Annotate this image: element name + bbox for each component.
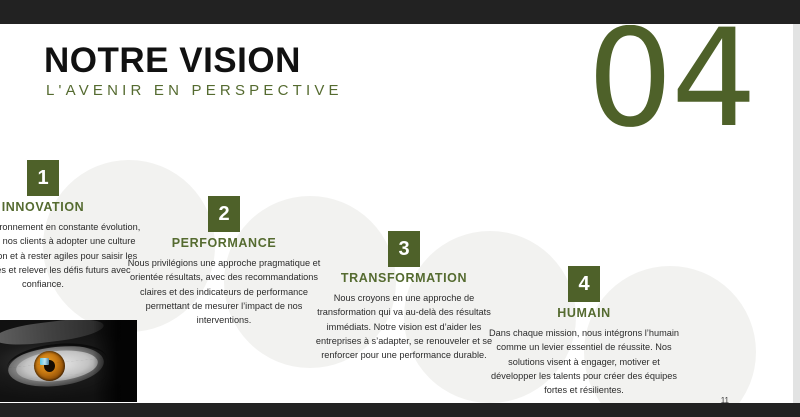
pillar-title: TRANSFORMATION: [341, 271, 467, 285]
pillar-body: Dans un environnement en constante évolu…: [0, 220, 141, 291]
right-edge-strip: [793, 24, 800, 403]
pillar-title: INNOVATION: [2, 200, 85, 214]
slide-canvas: NOTRE VISION L'AVENIR EN PERSPECTIVE 04 …: [0, 25, 789, 403]
pillar-number-badge: 2: [208, 196, 240, 232]
pillar-title: HUMAIN: [557, 306, 611, 320]
page-title: NOTRE VISION: [44, 43, 301, 78]
pillar-title: PERFORMANCE: [172, 236, 277, 250]
photo-shadow-vignette: [93, 320, 137, 402]
pillar-number-badge: 4: [568, 266, 600, 302]
pillar-body: Nous croyons en une approche de transfor…: [306, 291, 502, 362]
page-number: 11: [721, 396, 729, 403]
eye-photo-image: [0, 320, 137, 402]
bottom-chrome-bar: [0, 403, 800, 417]
presentation-viewport: NOTRE VISION L'AVENIR EN PERSPECTIVE 04 …: [0, 0, 800, 417]
pillar-body: Nous privilégions une approche pragmatiq…: [126, 256, 322, 327]
pillar-number-badge: 3: [388, 231, 420, 267]
pillar-body: Dans chaque mission, nous intégrons l’hu…: [486, 326, 682, 397]
page-subtitle: L'AVENIR EN PERSPECTIVE: [46, 82, 343, 99]
top-chrome-bar: [0, 0, 800, 24]
section-number: 04: [587, 25, 755, 146]
pillar-number-badge: 1: [27, 160, 59, 196]
